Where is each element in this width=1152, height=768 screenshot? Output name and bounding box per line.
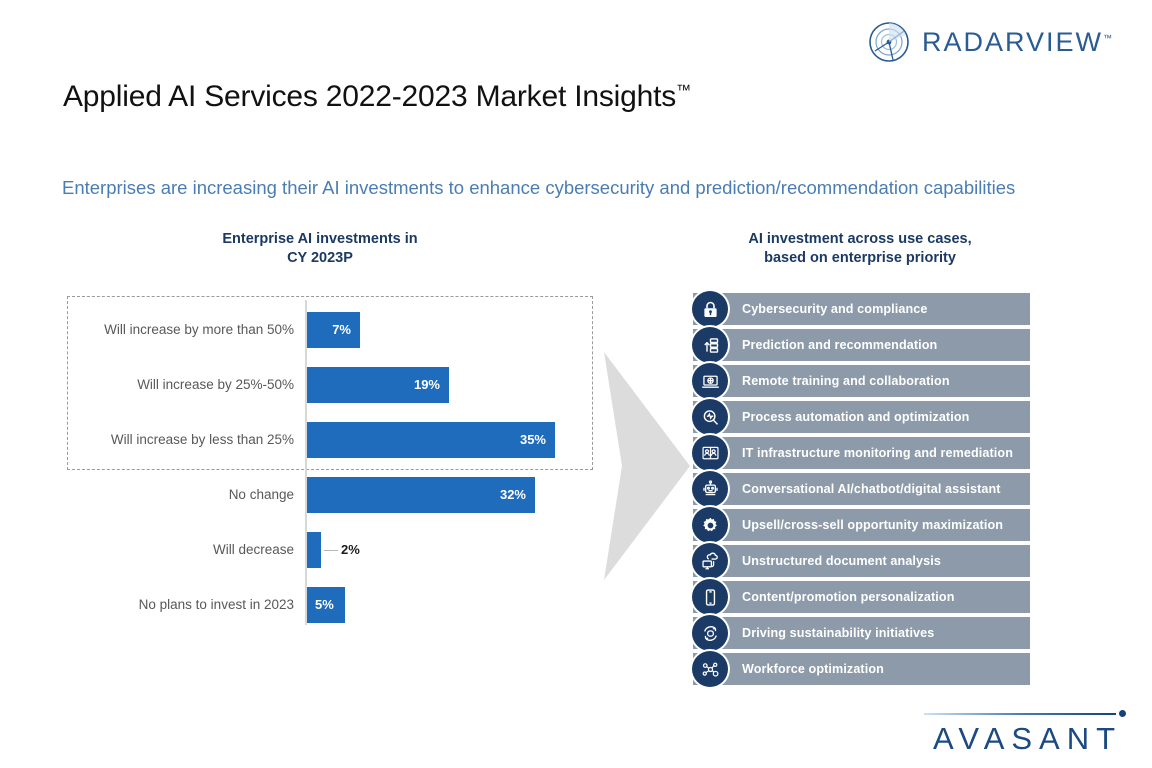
list-item[interactable]: IT infrastructure monitoring and remedia… — [693, 437, 1030, 469]
robot-icon — [692, 471, 728, 507]
bar-label: Will increase by 25%-50% — [137, 367, 294, 403]
list-item-label: Unstructured document analysis — [742, 554, 941, 568]
bar-label: No plans to invest in 2023 — [139, 587, 294, 623]
list-item-label: Upsell/cross-sell opportunity maximizati… — [742, 518, 1003, 532]
list-item-label: Workforce optimization — [742, 662, 884, 676]
list-item-label: Driving sustainability initiatives — [742, 626, 934, 640]
list-item[interactable]: Upsell/cross-sell opportunity maximizati… — [693, 509, 1030, 541]
recycle-leaf-icon — [692, 615, 728, 651]
list-item[interactable]: Prediction and recommendation — [693, 329, 1030, 361]
use-case-list: Cybersecurity and compliance Prediction … — [693, 293, 1030, 689]
bar-rect: 32% — [307, 477, 535, 513]
list-item[interactable]: Content/promotion personalization — [693, 581, 1030, 613]
list-item[interactable]: Driving sustainability initiatives — [693, 617, 1030, 649]
network-people-icon — [692, 651, 728, 687]
bar-rect: 35% — [307, 422, 555, 458]
mobile-phone-icon — [692, 579, 728, 615]
right-chart-title: AI investment across use cases, based on… — [700, 230, 1020, 268]
right-arrow-icon — [604, 352, 690, 580]
monitor-people-icon — [692, 435, 728, 471]
list-item-label: IT infrastructure monitoring and remedia… — [742, 446, 1013, 460]
bar-rect: 19% — [307, 367, 449, 403]
list-item[interactable]: Conversational AI/chatbot/digital assist… — [693, 473, 1030, 505]
list-item-label: Cybersecurity and compliance — [742, 302, 927, 316]
bar-label: Will increase by more than 50% — [104, 312, 294, 348]
avasant-line — [924, 713, 1116, 715]
gear-icon — [692, 507, 728, 543]
bar-label: No change — [229, 477, 294, 513]
list-item[interactable]: Remote training and collaboration — [693, 365, 1030, 397]
forecast-list-icon — [692, 327, 728, 363]
bar-value: 32% — [500, 477, 526, 513]
list-item-label: Process automation and optimization — [742, 410, 969, 424]
magnifier-pulse-icon — [692, 399, 728, 435]
list-item-label: Remote training and collaboration — [742, 374, 950, 388]
list-item[interactable]: Cybersecurity and compliance — [693, 293, 1030, 325]
right-chart-title-line1: AI investment across use cases, — [700, 230, 1020, 249]
laptop-globe-icon — [692, 363, 728, 399]
bar-rect: 7% — [307, 312, 360, 348]
value-leader-line — [324, 550, 338, 551]
cloud-monitor-icon — [692, 543, 728, 579]
avasant-logo: AVASANT — [920, 707, 1135, 759]
list-item-label: Prediction and recommendation — [742, 338, 937, 352]
list-item-label: Conversational AI/chatbot/digital assist… — [742, 482, 1001, 496]
list-item[interactable]: Process automation and optimization — [693, 401, 1030, 433]
bar-value: 7% — [332, 312, 351, 348]
bar-value: 2% — [341, 532, 360, 568]
lock-icon — [692, 291, 728, 327]
avasant-dot — [1119, 710, 1126, 717]
right-chart-title-line2: based on enterprise priority — [700, 249, 1020, 268]
bar-label: Will increase by less than 25% — [111, 422, 294, 458]
bar-value: 19% — [414, 367, 440, 403]
avasant-wordmark: AVASANT — [920, 721, 1135, 757]
slide-canvas: RADARVIEW™ Applied AI Services 2022-2023… — [0, 0, 1152, 768]
list-item[interactable]: Unstructured document analysis — [693, 545, 1030, 577]
bar-rect — [307, 532, 321, 568]
bar-rect: 5% — [307, 587, 345, 623]
bar-value: 5% — [315, 587, 334, 623]
list-item-label: Content/promotion personalization — [742, 590, 955, 604]
bar-value: 35% — [520, 422, 546, 458]
bar-label: Will decrease — [213, 532, 294, 568]
list-item[interactable]: Workforce optimization — [693, 653, 1030, 685]
